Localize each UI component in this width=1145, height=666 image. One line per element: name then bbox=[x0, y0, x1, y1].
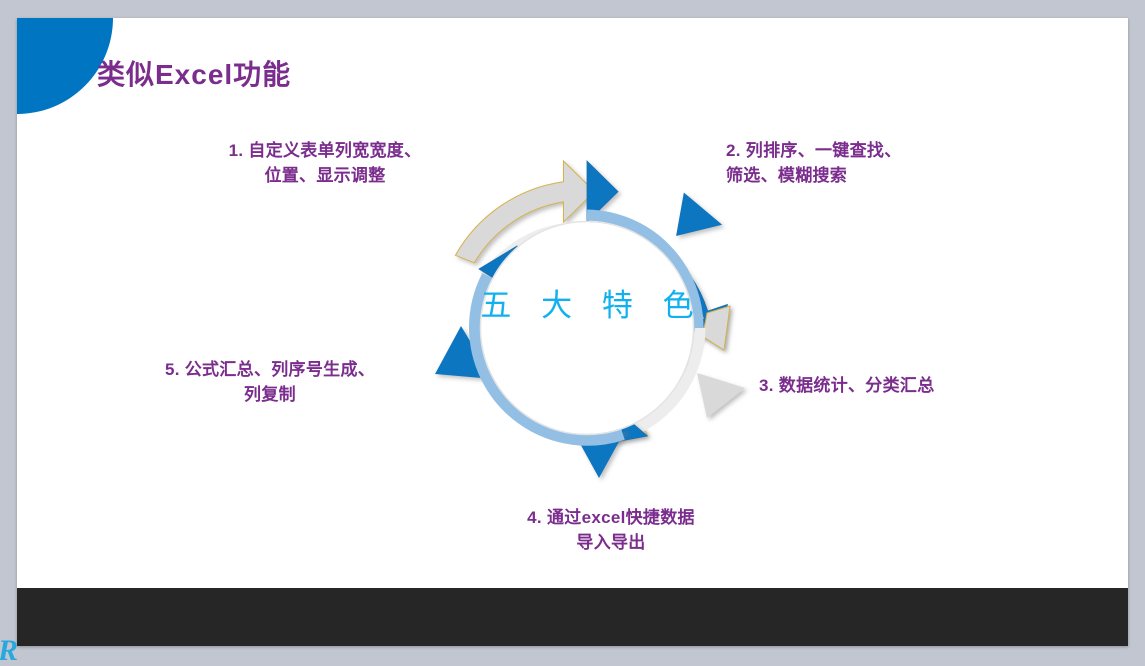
callout-label-4-line-1: 4. 通过excel快捷数据 bbox=[487, 506, 735, 531]
callout-label-1: 1. 自定义表单列宽宽度、 位置、显示调整 bbox=[193, 139, 457, 188]
cycle-center-label: 五 大 特 色 bbox=[395, 280, 779, 325]
cycle-arrowhead-2 bbox=[697, 373, 745, 418]
callout-label-5-line-2: 列复制 bbox=[139, 383, 401, 408]
callout-label-3-line-1: 3. 数据统计、分类汇总 bbox=[759, 374, 1059, 399]
callout-label-3: 3. 数据统计、分类汇总 bbox=[759, 374, 1059, 399]
callout-label-2-line-2: 筛选、模糊搜索 bbox=[726, 164, 1026, 189]
callout-label-4-line-2: 导入导出 bbox=[487, 531, 735, 556]
callout-label-2-line-1: 2. 列排序、一键查找、 bbox=[726, 139, 1026, 164]
cycle-center-disc bbox=[481, 222, 693, 434]
slide-canvas: 类似Excel功能 bbox=[17, 18, 1128, 646]
callout-label-1-line-1: 1. 自定义表单列宽宽度、 bbox=[193, 139, 457, 164]
corner-logo-icon: R bbox=[0, 638, 24, 666]
callout-label-4: 4. 通过excel快捷数据 导入导出 bbox=[487, 506, 735, 555]
cycle-diagram bbox=[395, 136, 779, 520]
cycle-diagram-svg bbox=[395, 136, 779, 520]
callout-label-1-line-2: 位置、显示调整 bbox=[193, 164, 457, 189]
callout-label-5: 5. 公式汇总、列序号生成、 列复制 bbox=[139, 358, 401, 407]
callout-label-2: 2. 列排序、一键查找、 筛选、模糊搜索 bbox=[726, 139, 1026, 188]
callout-label-5-line-1: 5. 公式汇总、列序号生成、 bbox=[139, 358, 401, 383]
slide-footer-band bbox=[17, 588, 1128, 646]
page-title: 类似Excel功能 bbox=[97, 58, 291, 92]
cycle-arrowhead-1 bbox=[673, 193, 727, 247]
presentation-viewport: 类似Excel功能 bbox=[0, 0, 1145, 666]
